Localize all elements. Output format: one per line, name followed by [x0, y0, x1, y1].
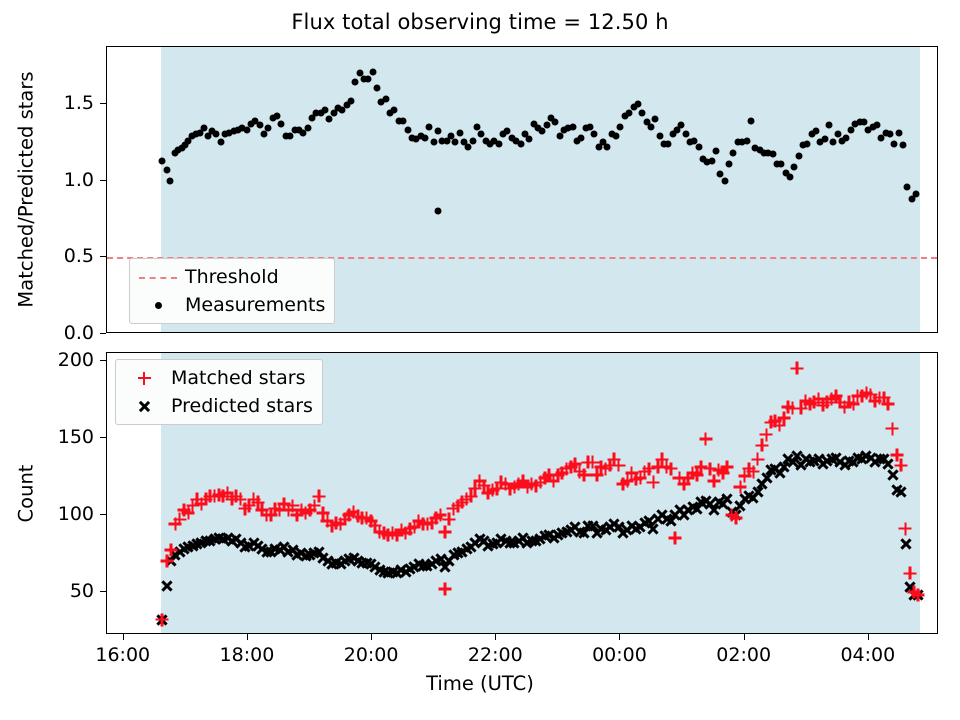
- measurement-point: [713, 148, 720, 155]
- measurement-point: [391, 106, 398, 113]
- measurement-point: [456, 129, 463, 136]
- matched-star-point: [156, 613, 169, 626]
- legend-label-measurements: Measurements: [179, 294, 325, 316]
- measurement-point: [895, 129, 902, 136]
- y-tick-label: 50: [30, 580, 94, 602]
- x-tick-mark: [247, 634, 248, 640]
- measurement-point: [552, 119, 559, 126]
- x-tick-mark: [495, 634, 496, 640]
- legend-item-threshold[interactable]: Threshold: [137, 264, 325, 290]
- measurement-point-outlier: [434, 208, 441, 215]
- x-tick-mark: [744, 634, 745, 640]
- measurement-point: [665, 140, 672, 147]
- x-tick-mark: [619, 634, 620, 640]
- measurement-point: [365, 76, 372, 83]
- y-tick-label: 1.0: [30, 169, 94, 191]
- measurement-point: [201, 125, 208, 132]
- dashed-line-icon: [137, 267, 179, 287]
- matched-star-point: [164, 544, 177, 557]
- measurement-point: [708, 157, 715, 164]
- measurement-point: [647, 123, 654, 130]
- bottom-panel-legend[interactable]: Matched stars Predicted stars: [115, 359, 323, 425]
- measurement-point: [843, 134, 850, 141]
- matched-star-point: [886, 422, 899, 435]
- measurement-point: [639, 109, 646, 116]
- predicted-star-point: [721, 493, 734, 506]
- matched-star-point: [721, 461, 734, 474]
- measurement-point: [556, 133, 563, 140]
- measurement-point: [452, 139, 459, 146]
- x-axis-label: Time (UTC): [0, 672, 960, 695]
- y-tick-mark: [100, 591, 106, 592]
- matched-star-point: [751, 453, 764, 466]
- matched-star-point: [577, 468, 590, 481]
- measurement-point: [404, 126, 411, 133]
- legend-label-predicted-stars: Predicted stars: [165, 395, 313, 417]
- measurement-point: [159, 157, 166, 164]
- matched-star-point: [699, 433, 712, 446]
- measurement-point: [721, 177, 728, 184]
- measurement-point: [886, 131, 893, 138]
- y-tick-mark: [100, 514, 106, 515]
- predicted-star-point: [895, 485, 908, 498]
- y-tick-mark: [100, 103, 106, 104]
- matched-star-point: [895, 459, 908, 472]
- measurement-point: [326, 116, 333, 123]
- x-tick-label: 20:00: [344, 644, 399, 666]
- predicted-star-point: [161, 579, 174, 592]
- matched-star-point: [911, 588, 924, 601]
- measurement-point: [213, 131, 220, 138]
- matched-star-point: [647, 476, 660, 489]
- measurement-point: [813, 128, 820, 135]
- x-tick-label: 02:00: [716, 644, 771, 666]
- y-tick-label: 0.0: [30, 322, 94, 344]
- matched-star-point: [312, 490, 325, 503]
- measurement-point: [374, 85, 381, 92]
- measurement-point: [804, 140, 811, 147]
- matched-star-point: [760, 428, 773, 441]
- measurement-point: [826, 122, 833, 129]
- x-tick-mark: [123, 634, 124, 640]
- y-tick-mark: [100, 256, 106, 257]
- measurement-point: [678, 122, 685, 129]
- measurement-point: [899, 142, 906, 149]
- measurement-point: [591, 131, 598, 138]
- measurement-point: [495, 140, 502, 147]
- y-tick-label: 0.5: [30, 245, 94, 267]
- x-tick-label: 22:00: [468, 644, 523, 666]
- measurement-point: [569, 123, 576, 130]
- measurement-point: [860, 119, 867, 126]
- top-panel-axes: Threshold Measurements: [106, 46, 938, 333]
- y-tick-mark: [100, 180, 106, 181]
- measurement-point: [304, 125, 311, 132]
- legend-item-matched-stars[interactable]: Matched stars: [123, 365, 313, 391]
- measurement-point: [730, 149, 737, 156]
- y-tick-label: 150: [30, 426, 94, 448]
- x-tick-label: 00:00: [592, 644, 647, 666]
- measurement-point: [604, 143, 611, 150]
- measurement-point: [786, 174, 793, 181]
- matched-star-point: [669, 531, 682, 544]
- x-tick-mark: [868, 634, 869, 640]
- measurement-point: [526, 136, 533, 143]
- measurement-point: [626, 109, 633, 116]
- measurement-point: [821, 136, 828, 143]
- measurement-point: [613, 133, 620, 140]
- x-tick-label: 04:00: [840, 644, 895, 666]
- measurement-point: [769, 151, 776, 158]
- matched-star-point: [747, 465, 760, 478]
- measurement-point: [743, 137, 750, 144]
- measurement-point: [652, 116, 659, 123]
- x-tick-label: 18:00: [220, 644, 275, 666]
- measurement-point: [321, 106, 328, 113]
- measurement-point: [243, 126, 250, 133]
- measurement-point: [578, 134, 585, 141]
- measurement-point: [695, 143, 702, 150]
- y-tick-label: 1.5: [30, 92, 94, 114]
- measurement-point: [913, 191, 920, 198]
- measurement-point: [261, 131, 268, 138]
- measurement-point: [265, 125, 272, 132]
- measurement-point: [469, 137, 476, 144]
- measurement-point: [830, 139, 837, 146]
- matched-star-point: [438, 525, 451, 538]
- measurement-point: [348, 97, 355, 104]
- measurement-point: [891, 140, 898, 147]
- measurement-point: [656, 133, 663, 140]
- measurement-point: [369, 68, 376, 75]
- y-tick-mark: [100, 333, 106, 334]
- y-tick-label: 200: [30, 349, 94, 371]
- measurement-point: [873, 122, 880, 129]
- measurement-point: [434, 128, 441, 135]
- measurement-point: [587, 123, 594, 130]
- measurement-point: [726, 160, 733, 167]
- measurement-point: [474, 123, 481, 130]
- measurement-point: [617, 123, 624, 130]
- matched-star-point: [729, 511, 742, 524]
- measurement-point: [382, 96, 389, 103]
- measurement-point: [539, 128, 546, 135]
- matched-star-point: [882, 397, 895, 410]
- matched-star-point: [790, 362, 803, 375]
- x-tick-label: 16:00: [95, 644, 150, 666]
- legend-item-measurements[interactable]: Measurements: [137, 292, 325, 318]
- measurement-point: [278, 120, 285, 127]
- predicted-star-point: [899, 538, 912, 551]
- bottom-panel-axes: Matched stars Predicted stars: [106, 352, 938, 634]
- bottom-panel-y-axis-label: Count: [14, 464, 37, 522]
- legend-item-predicted-stars[interactable]: Predicted stars: [123, 393, 313, 419]
- measurement-point: [164, 166, 171, 173]
- matched-star-point-outlier: [438, 582, 451, 595]
- dot-marker-icon: [137, 295, 179, 315]
- plus-marker-icon: [123, 368, 165, 388]
- top-panel-y-axis-label: Matched/Predicted stars: [15, 71, 38, 307]
- measurement-point: [430, 139, 437, 146]
- measurement-point: [352, 79, 359, 86]
- matched-star-point: [612, 459, 625, 472]
- legend-label-threshold: Threshold: [179, 266, 279, 288]
- measurement-point: [634, 100, 641, 107]
- measurement-point: [847, 126, 854, 133]
- measurement-point: [778, 160, 785, 167]
- measurement-point: [274, 113, 281, 120]
- measurement-point: [465, 143, 472, 150]
- y-tick-label: 100: [30, 503, 94, 525]
- measurement-point: [421, 134, 428, 141]
- measurement-point: [747, 117, 754, 124]
- measurement-point: [400, 117, 407, 124]
- measurement-point: [795, 152, 802, 159]
- cross-marker-icon: [123, 396, 165, 416]
- measurement-point: [166, 177, 173, 184]
- matched-star-point: [899, 522, 912, 535]
- measurement-point: [791, 163, 798, 170]
- measurement-point: [904, 183, 911, 190]
- measurement-point: [543, 122, 550, 129]
- y-tick-mark: [100, 437, 106, 438]
- matched-star-point: [903, 567, 916, 580]
- measurement-point: [426, 123, 433, 130]
- measurement-point: [256, 122, 263, 129]
- measurement-point: [682, 131, 689, 138]
- measurement-point: [517, 140, 524, 147]
- measurement-point: [217, 139, 224, 146]
- measurement-point: [287, 133, 294, 140]
- page-title: Flux total observing time = 12.50 h: [0, 10, 960, 34]
- figure: Flux total observing time = 12.50 h Thre…: [0, 0, 960, 720]
- y-tick-mark: [100, 360, 106, 361]
- legend-label-matched-stars: Matched stars: [165, 367, 305, 389]
- top-panel-legend[interactable]: Threshold Measurements: [129, 258, 335, 324]
- x-tick-mark: [371, 634, 372, 640]
